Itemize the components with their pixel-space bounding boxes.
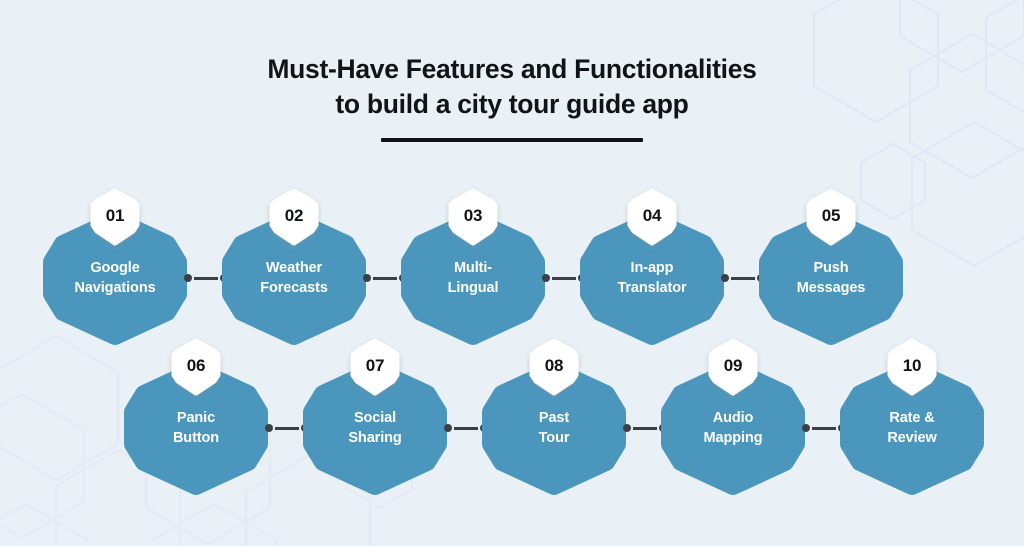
hexagon-number: 10 [890, 341, 934, 393]
connector-line [454, 427, 478, 430]
hexagon-number-badge: 01 [93, 191, 137, 243]
hexagon-number: 03 [451, 191, 495, 243]
hexagon-number-badge: 08 [532, 341, 576, 393]
connector-09-10 [802, 423, 846, 433]
connector-08-09 [623, 423, 667, 433]
hexagon-number-badge: 07 [353, 341, 397, 393]
hexagon-number: 08 [532, 341, 576, 393]
feature-hexagon-07[interactable]: Social Sharing07 [312, 382, 438, 474]
connector-04-05 [721, 273, 765, 283]
hexagon-number: 01 [93, 191, 137, 243]
hexagon-label: Multi- Lingual [410, 232, 536, 324]
connector-dot-left [184, 274, 192, 282]
hexagon-number-badge: 09 [711, 341, 755, 393]
connector-01-02 [184, 273, 228, 283]
hexagon-number-badge: 06 [174, 341, 218, 393]
hexagon-number: 09 [711, 341, 755, 393]
connector-02-03 [363, 273, 407, 283]
connector-line [275, 427, 299, 430]
connector-line [633, 427, 657, 430]
hexagon-number: 04 [630, 191, 674, 243]
connector-dot-left [363, 274, 371, 282]
hexagon-number-badge: 05 [809, 191, 853, 243]
connector-dot-left [721, 274, 729, 282]
connector-dot-left [802, 424, 810, 432]
hexagon-number-badge: 02 [272, 191, 316, 243]
connector-line [731, 277, 755, 280]
connector-line [812, 427, 836, 430]
page-title-line-1: Must-Have Features and Functionalities [0, 52, 1024, 87]
page-title: Must-Have Features and Functionalities t… [0, 52, 1024, 142]
hexagon-label: Past Tour [491, 382, 617, 474]
feature-hexagon-03[interactable]: Multi- Lingual03 [410, 232, 536, 324]
connector-06-07 [265, 423, 309, 433]
feature-hexagon-10[interactable]: Rate & Review10 [849, 382, 975, 474]
feature-hexagon-06[interactable]: Panic Button06 [133, 382, 259, 474]
connector-line [373, 277, 397, 280]
hexagon-number: 05 [809, 191, 853, 243]
connector-line [194, 277, 218, 280]
feature-hexagon-09[interactable]: Audio Mapping09 [670, 382, 796, 474]
hexagon-number-badge: 10 [890, 341, 934, 393]
hexagon-label: Audio Mapping [670, 382, 796, 474]
feature-hexagon-02[interactable]: Weather Forecasts02 [231, 232, 357, 324]
connector-07-08 [444, 423, 488, 433]
title-underline-rule [381, 138, 643, 142]
hexagon-label: Google Navigations [52, 232, 178, 324]
feature-hexagon-08[interactable]: Past Tour08 [491, 382, 617, 474]
hexagon-label: Panic Button [133, 382, 259, 474]
connector-line [552, 277, 576, 280]
hexagon-label: Weather Forecasts [231, 232, 357, 324]
connector-03-04 [542, 273, 586, 283]
hexagon-label: In-app Translator [589, 232, 715, 324]
feature-hexagon-04[interactable]: In-app Translator04 [589, 232, 715, 324]
connector-dot-left [444, 424, 452, 432]
hexagon-label: Social Sharing [312, 382, 438, 474]
connector-dot-left [265, 424, 273, 432]
feature-hexagon-05[interactable]: Push Messages05 [768, 232, 894, 324]
hexagon-number: 07 [353, 341, 397, 393]
connector-dot-left [623, 424, 631, 432]
hexagon-number: 02 [272, 191, 316, 243]
hexagon-number-badge: 03 [451, 191, 495, 243]
hexagon-number-badge: 04 [630, 191, 674, 243]
feature-hexagon-01[interactable]: Google Navigations01 [52, 232, 178, 324]
hexagon-label: Rate & Review [849, 382, 975, 474]
connector-dot-left [542, 274, 550, 282]
page-title-line-2: to build a city tour guide app [0, 87, 1024, 122]
hexagon-number: 06 [174, 341, 218, 393]
hexagon-label: Push Messages [768, 232, 894, 324]
